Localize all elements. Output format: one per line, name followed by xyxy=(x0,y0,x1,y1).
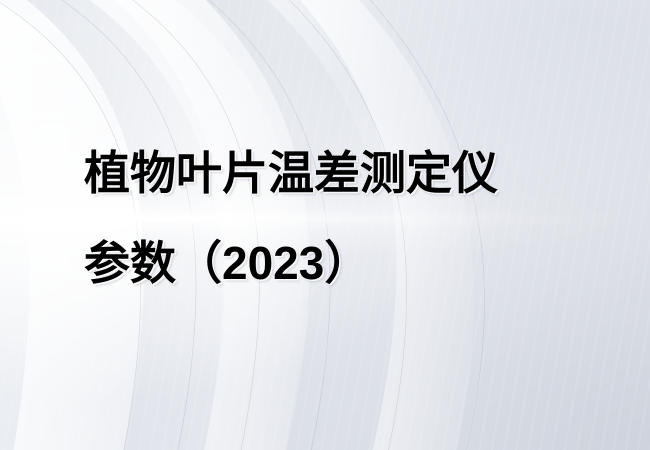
banner-image: 植物叶片温差测定仪 参数（2023） xyxy=(0,0,650,450)
title-block: 植物叶片温差测定仪 参数（2023） xyxy=(84,128,604,308)
title-line-2: 参数（2023） xyxy=(84,218,604,308)
title-line-1: 植物叶片温差测定仪 xyxy=(84,128,604,218)
